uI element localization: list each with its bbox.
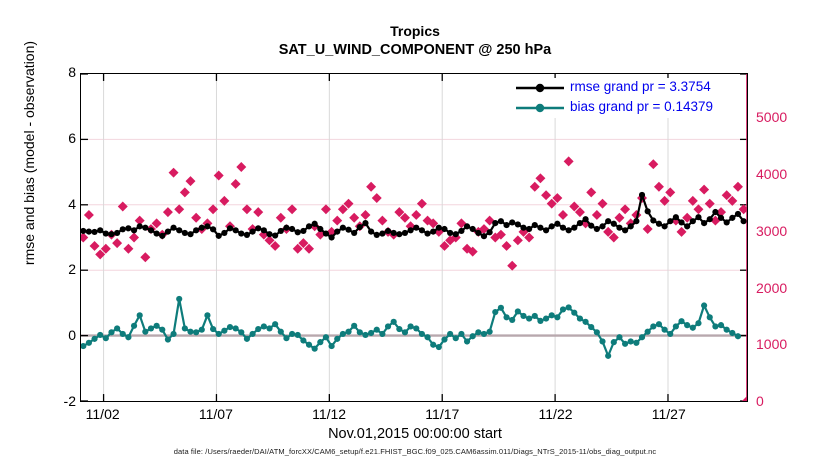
bottom-tick-label: 11/27 (634, 406, 704, 422)
rmse-point (362, 220, 368, 226)
rmse-point (633, 218, 639, 224)
bias-point (216, 331, 222, 337)
obs-marker (191, 213, 201, 223)
rmse-point (707, 216, 713, 222)
bottom-axis-label: Nov.01,2015 00:00:00 start (0, 426, 830, 442)
bias-point (182, 325, 188, 331)
bias-point (673, 323, 679, 329)
rmse-point (340, 225, 346, 231)
obs-marker (169, 168, 179, 178)
bias-point (97, 332, 103, 338)
bias-point (594, 329, 600, 335)
rmse-point (509, 219, 515, 225)
bias-point (323, 334, 329, 340)
bias-point (396, 326, 402, 332)
rmse-point (566, 227, 572, 233)
rmse-point (515, 221, 521, 227)
bias-point (255, 326, 261, 332)
rmse-point (103, 230, 109, 236)
bias-point (735, 333, 741, 339)
bias-point (447, 331, 453, 337)
obs-marker (377, 216, 387, 226)
rmse-point (125, 225, 131, 231)
bias-point (537, 318, 543, 324)
bias-point (684, 322, 690, 328)
right-tick-label: 3000 (756, 223, 816, 239)
left-tick-label: 8 (36, 64, 76, 80)
bias-point (357, 329, 363, 335)
obs-marker (598, 199, 608, 209)
bias-point (577, 316, 583, 322)
rmse-point (357, 224, 363, 230)
rmse-point (351, 230, 357, 236)
rmse-point (498, 218, 504, 224)
bias-point (498, 305, 504, 311)
bias-point (424, 334, 430, 340)
bias-point (385, 323, 391, 329)
rmse-point (283, 225, 289, 231)
rmse-point (216, 233, 222, 239)
rmse-point (86, 229, 92, 235)
rmse-point (667, 218, 673, 224)
obs-marker (174, 204, 184, 214)
rmse-point (385, 228, 391, 234)
rmse-point (628, 223, 634, 229)
rmse-point (137, 223, 143, 229)
bias-point (695, 320, 701, 326)
bias-point (413, 325, 419, 331)
rmse-point (374, 232, 380, 238)
bias-point (475, 329, 481, 335)
bias-point (204, 312, 210, 318)
legend-marker-rmse (514, 78, 566, 98)
bias-point (724, 327, 730, 333)
bias-point (554, 314, 560, 320)
rmse-point (396, 231, 402, 237)
rmse-point (470, 226, 476, 232)
bias-point (193, 329, 199, 335)
bias-point (249, 331, 255, 337)
bias-point (560, 306, 566, 312)
obs-marker (332, 216, 342, 226)
plot-canvas (81, 74, 747, 401)
obs-marker (253, 207, 263, 217)
bias-point (210, 326, 216, 332)
bias-point (148, 325, 154, 331)
chart-page: Tropics SAT_U_WIND_COMPONENT @ 250 hPa -… (0, 0, 830, 470)
legend-item-rmse: rmse grand pr = 3.3754 (514, 78, 742, 98)
bias-point (91, 336, 97, 342)
bias-point (520, 313, 526, 319)
title-region: Tropics (0, 22, 830, 41)
rmse-point (345, 227, 351, 233)
obs-marker (541, 190, 551, 200)
bias-point (464, 338, 470, 344)
bias-point (114, 325, 120, 331)
title-variable: SAT_U_WIND_COMPONENT @ 250 hPa (0, 41, 830, 60)
bias-point (221, 328, 227, 334)
obs-marker (90, 241, 100, 251)
bias-point (633, 340, 639, 346)
bias-point (368, 330, 374, 336)
rmse-point (131, 227, 137, 233)
bias-point (345, 329, 351, 335)
rmse-point (413, 225, 419, 231)
bias-point (515, 308, 521, 314)
rmse-point (554, 221, 560, 227)
rmse-point (227, 225, 233, 231)
rmse-point (210, 226, 216, 232)
obs-marker (186, 176, 196, 186)
rmse-point (458, 228, 464, 234)
bias-point (379, 331, 385, 337)
rmse-point (481, 233, 487, 239)
plot-area (80, 73, 748, 402)
rmse-point (368, 229, 374, 235)
rmse-point (503, 222, 509, 228)
rmse-point (577, 220, 583, 226)
rmse-point (391, 230, 397, 236)
rmse-point (695, 214, 701, 220)
left-tick-label: 4 (36, 196, 76, 212)
rmse-point (605, 218, 611, 224)
bias-point (362, 332, 368, 338)
bias-point (588, 324, 594, 330)
obs-marker (411, 210, 421, 220)
rmse-point (176, 227, 182, 233)
bias-point (402, 329, 408, 335)
obs-marker (118, 202, 128, 212)
bias-point (142, 329, 148, 335)
rmse-point (475, 230, 481, 236)
rmse-point (718, 215, 724, 221)
legend-item-bias: bias grand pr = 0.14379 (514, 98, 742, 118)
bias-point (656, 321, 662, 327)
rmse-point (182, 230, 188, 236)
bias-point (441, 336, 447, 342)
obs-marker (214, 171, 224, 181)
obs-marker (84, 210, 94, 220)
right-tick-label: 4000 (756, 166, 816, 182)
rmse-point (114, 230, 120, 236)
bias-point (492, 309, 498, 315)
bias-point (283, 335, 289, 341)
bias-point (650, 323, 656, 329)
bias-point (391, 319, 397, 325)
bias-point (176, 296, 182, 302)
obs-marker (648, 159, 658, 169)
bottom-tick-label: 11/17 (407, 406, 477, 422)
rmse-point (453, 231, 459, 237)
bias-point (605, 353, 611, 359)
rmse-point (419, 227, 425, 233)
bias-point (295, 332, 301, 338)
bias-point (317, 339, 323, 345)
data-file-caption: data file: /Users/raeder/DAI/ATM_forcXX/… (0, 447, 830, 456)
obs-marker (592, 210, 602, 220)
bias-point (86, 340, 92, 346)
rmse-point (662, 223, 668, 229)
rmse-point (233, 227, 239, 233)
rmse-point (611, 221, 617, 227)
rmse-point (120, 226, 126, 232)
obs-marker (693, 204, 703, 214)
rmse-point (255, 225, 261, 231)
bias-point (481, 331, 487, 337)
rmse-point (487, 229, 493, 235)
rmse-point (272, 232, 278, 238)
legend-label-bias: bias grand pr = 0.14379 (570, 99, 713, 114)
obs-marker-zero (742, 396, 747, 401)
bias-point (419, 331, 425, 337)
rmse-point (622, 227, 628, 233)
bottom-tick-label: 11/02 (68, 406, 138, 422)
rmse-point (221, 230, 227, 236)
bias-point (278, 329, 284, 335)
bias-point (266, 325, 272, 331)
rmse-point (492, 220, 498, 226)
rmse-point (199, 225, 205, 231)
obs-marker (349, 213, 359, 223)
obs-marker (733, 182, 743, 192)
bias-point (571, 310, 577, 316)
rmse-point (447, 230, 453, 236)
rmse-point (735, 211, 741, 217)
obs-marker (507, 261, 517, 271)
bias-point (622, 341, 628, 347)
bias-point (458, 331, 464, 337)
right-tick-label: 1000 (756, 336, 816, 352)
obs-marker (614, 213, 624, 223)
rmse-point (402, 230, 408, 236)
bias-point (165, 336, 171, 342)
rmse-point (599, 223, 605, 229)
bias-point (487, 329, 493, 335)
bias-point (543, 316, 549, 322)
bias-point (470, 333, 476, 339)
bias-point (159, 327, 165, 333)
obs-marker (163, 207, 173, 217)
rmse-point (379, 230, 385, 236)
obs-marker (705, 199, 715, 209)
rmse-point (520, 225, 526, 231)
bias-point (667, 331, 673, 337)
rmse-point (645, 208, 651, 214)
rmse-point (543, 227, 549, 233)
rmse-point (91, 229, 97, 235)
bias-point (690, 325, 696, 331)
rmse-point (154, 230, 160, 236)
rmse-point (436, 225, 442, 231)
rmse-point (588, 223, 594, 229)
obs-marker (417, 199, 427, 209)
obs-marker (564, 156, 574, 166)
obs-marker (586, 187, 596, 197)
bias-point (582, 319, 588, 325)
obs-marker (502, 241, 512, 251)
bias-point (306, 342, 312, 348)
obs-marker (513, 235, 523, 245)
bias-point (628, 338, 634, 344)
bias-point (549, 312, 555, 318)
legend-label-rmse: rmse grand pr = 3.3754 (570, 79, 711, 94)
bias-point (701, 302, 707, 308)
rmse-point (678, 219, 684, 225)
obs-marker (654, 182, 664, 192)
bottom-tick-label: 11/07 (181, 406, 251, 422)
rmse-point (729, 215, 735, 221)
rmse-point (464, 223, 470, 229)
rmse-point (532, 222, 538, 228)
bias-point (408, 323, 414, 329)
rmse-point (238, 230, 244, 236)
rmse-point (724, 219, 730, 225)
bias-point (340, 331, 346, 337)
bias-point (532, 313, 538, 319)
rmse-point (582, 216, 588, 222)
obs-marker (276, 213, 286, 223)
bias-point (272, 321, 278, 327)
obs-marker (360, 210, 370, 220)
bias-point (599, 338, 605, 344)
bias-point (566, 304, 572, 310)
obs-marker (558, 210, 568, 220)
obs-marker (535, 173, 545, 183)
obs-marker (140, 252, 150, 262)
bias-point (187, 329, 193, 335)
bias-point (125, 334, 131, 340)
bias-point (329, 343, 335, 349)
bias-point (639, 334, 645, 340)
rmse-point (334, 229, 340, 235)
rmse-point (289, 226, 295, 232)
bias-point (108, 329, 114, 335)
rmse-point (701, 220, 707, 226)
obs-marker (129, 233, 139, 243)
bias-point (662, 327, 668, 333)
bottom-tick-label: 11/12 (294, 406, 364, 422)
bias-point (678, 318, 684, 324)
bias-point (227, 324, 233, 330)
bias-point (453, 335, 459, 341)
obs-marker (366, 182, 376, 192)
obs-marker (180, 187, 190, 197)
rmse-point (329, 234, 335, 240)
obs-marker (530, 182, 540, 192)
chart-title: Tropics SAT_U_WIND_COMPONENT @ 250 hPa (0, 22, 830, 60)
rmse-point (261, 227, 267, 233)
rmse-point (148, 227, 154, 233)
rmse-point (249, 229, 255, 235)
rmse-point (408, 227, 414, 233)
bias-point (645, 329, 651, 335)
bias-point (712, 323, 718, 329)
left-tick-label: 6 (36, 130, 76, 146)
rmse-point (300, 228, 306, 234)
bias-point (131, 323, 137, 329)
rmse-point (430, 229, 436, 235)
bottom-tick-label: 11/22 (521, 406, 591, 422)
bias-point (436, 344, 442, 350)
rmse-point (97, 227, 103, 233)
bias-point (289, 331, 295, 337)
rmse-point (170, 225, 176, 231)
bias-point (616, 334, 622, 340)
bias-point (120, 331, 126, 337)
rmse-point (560, 225, 566, 231)
obs-marker (112, 238, 122, 248)
bias-point (154, 323, 160, 329)
rmse-point (684, 223, 690, 229)
rmse-point (741, 218, 747, 224)
bias-point (374, 327, 380, 333)
bias-point (526, 316, 532, 322)
bias-point (718, 322, 724, 328)
rmse-point (656, 221, 662, 227)
rmse-point (549, 223, 555, 229)
bias-point (503, 314, 509, 320)
rmse-point (165, 229, 171, 235)
bias-point (244, 336, 250, 342)
right-tick-label: 5000 (756, 109, 816, 125)
rmse-point (142, 225, 148, 231)
bias-point (261, 323, 267, 329)
right-tick-label: 2000 (756, 280, 816, 296)
rmse-point (244, 232, 250, 238)
legend-marker-bias (514, 98, 566, 118)
bias-point (233, 325, 239, 331)
rmse-point (650, 217, 656, 223)
bias-point (334, 336, 340, 342)
left-axis-label: rmse and bias (model - observation) (21, 0, 37, 313)
bias-point (103, 335, 109, 341)
bias-point (509, 317, 515, 323)
rmse-point (312, 221, 318, 227)
bias-point (238, 329, 244, 335)
bias-point (611, 339, 617, 345)
obs-marker (287, 204, 297, 214)
bias-point (137, 312, 143, 318)
rmse-point (616, 225, 622, 231)
rmse-point (594, 226, 600, 232)
rmse-point (526, 226, 532, 232)
rmse-point (323, 230, 329, 236)
obs-marker (665, 187, 675, 197)
rmse-point (712, 209, 718, 215)
rmse-point (690, 218, 696, 224)
rmse-point (306, 223, 312, 229)
obs-marker (620, 204, 630, 214)
rmse-point (639, 192, 645, 198)
bias-point (300, 337, 306, 343)
obs-marker (699, 185, 709, 195)
bias-point (707, 314, 713, 320)
bias-point (199, 327, 205, 333)
left-tick-label: 0 (36, 327, 76, 343)
rmse-point (571, 225, 577, 231)
rmse-point (159, 233, 165, 239)
right-tick-label: 0 (756, 393, 816, 409)
obs-marker (231, 179, 241, 189)
rmse-point (204, 223, 210, 229)
rmse-point (317, 226, 323, 232)
rmse-point (424, 230, 430, 236)
legend: rmse grand pr = 3.3754 bias grand pr = 0… (514, 78, 742, 118)
obs-marker (643, 224, 653, 234)
bias-point (729, 330, 735, 336)
bias-point (170, 331, 176, 337)
rmse-point (278, 228, 284, 234)
